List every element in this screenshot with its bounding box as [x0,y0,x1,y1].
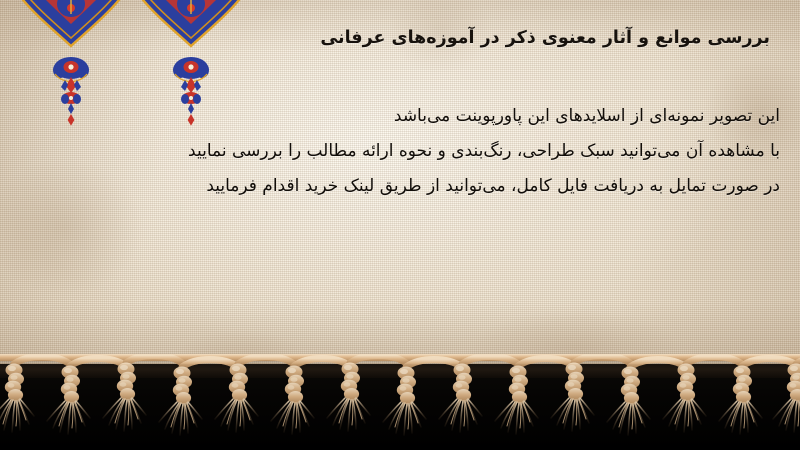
body-line-3: در صورت تمایل به دریافت فایل کامل، می‌تو… [28,178,780,195]
body-text-block: این تصویر نمونه‌ای از اسلایدهای این پاور… [28,108,780,195]
tassel-fringe [0,354,800,450]
page-title: بررسی موانع و آثار معنوی ذکر در آموزه‌ها… [130,28,770,50]
body-line-2: با مشاهده آن می‌توانید سبک طراحی، رنگ‌بن… [28,143,780,160]
body-line-1: این تصویر نمونه‌ای از اسلایدهای این پاور… [28,108,780,125]
slide-canvas: بررسی موانع و آثار معنوی ذکر در آموزه‌ها… [0,0,800,450]
